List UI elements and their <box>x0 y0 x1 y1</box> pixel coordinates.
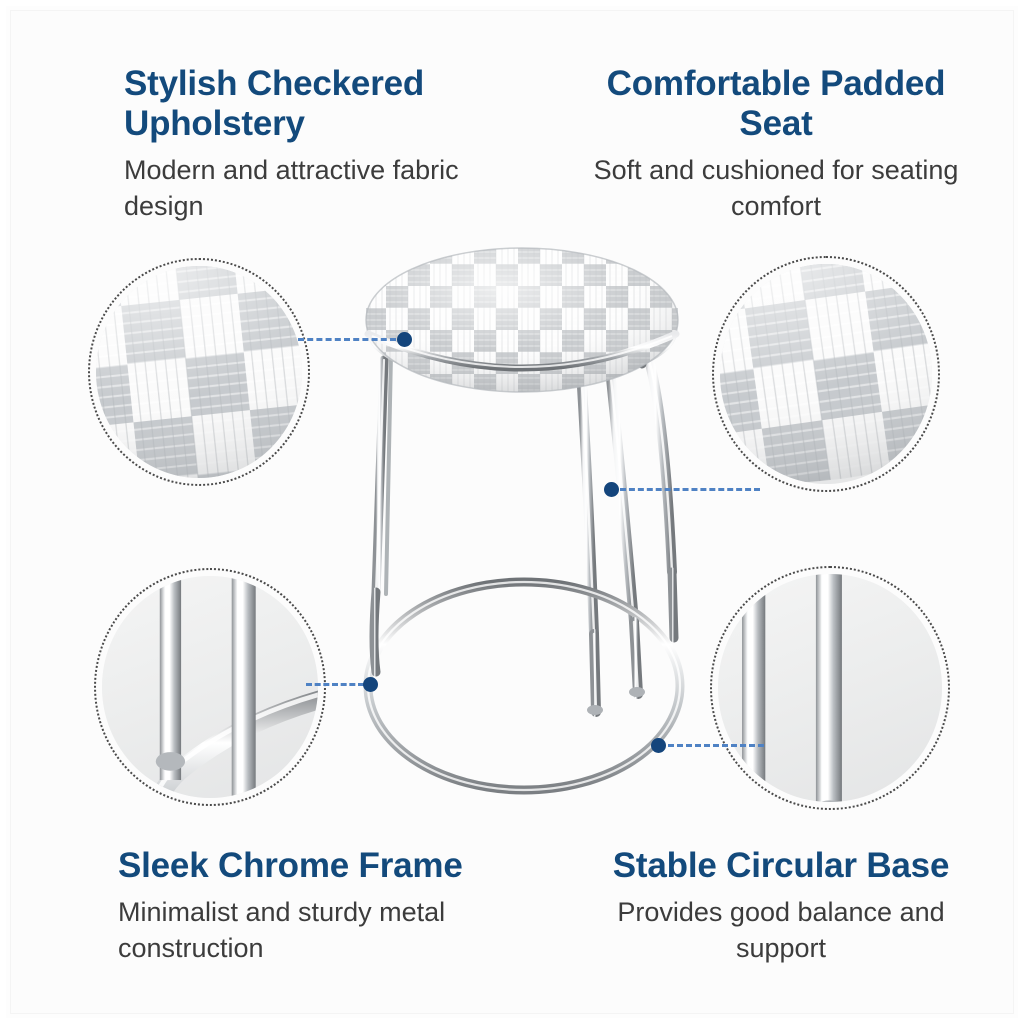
feature-text-padded-seat: Comfortable Padded Seat Soft and cushion… <box>566 64 986 224</box>
infographic-canvas: Stylish Checkered Upholstery Modern and … <box>0 0 1024 1024</box>
detail-circle-padded-seat-clip <box>720 264 932 484</box>
detail-circle-chrome-frame <box>94 568 326 806</box>
padded-seat-closeup-icon <box>720 264 932 484</box>
checkered-fabric-closeup-icon <box>96 266 302 478</box>
connector-dot-padded-seat <box>604 482 619 497</box>
detail-circle-padded-seat <box>712 256 940 492</box>
detail-circle-circular-base-clip <box>718 574 942 802</box>
connector-dot-chrome-frame <box>363 677 378 692</box>
chrome-leg-closeup-icon <box>102 576 318 798</box>
stool-illustration <box>342 242 702 802</box>
detail-circle-circular-base <box>710 566 950 810</box>
connector-dot-upholstery <box>397 332 412 347</box>
feature-subtitle-chrome-frame: Minimalist and sturdy metal construction <box>118 894 538 966</box>
circular-base-closeup-icon <box>718 574 942 802</box>
detail-circle-upholstery <box>88 258 310 486</box>
feature-title-padded-seat: Comfortable Padded Seat <box>566 64 986 144</box>
product-image-stool <box>342 242 702 802</box>
stool-seat <box>366 248 678 392</box>
feature-text-chrome-frame: Sleek Chrome Frame Minimalist and sturdy… <box>118 846 538 966</box>
connector-line-chrome-frame <box>306 683 364 686</box>
feature-subtitle-padded-seat: Soft and cushioned for seating comfort <box>566 152 986 224</box>
detail-circle-upholstery-clip <box>96 266 302 478</box>
feature-title-upholstery: Stylish Checkered Upholstery <box>124 64 484 144</box>
feature-subtitle-upholstery: Modern and attractive fabric design <box>124 152 484 224</box>
connector-line-padded-seat <box>620 488 760 491</box>
connector-dot-circular-base <box>651 738 666 753</box>
feature-text-circular-base: Stable Circular Base Provides good balan… <box>576 846 986 966</box>
connector-line-circular-base <box>668 744 764 747</box>
feature-text-upholstery: Stylish Checkered Upholstery Modern and … <box>124 64 484 224</box>
feature-title-chrome-frame: Sleek Chrome Frame <box>118 846 538 886</box>
detail-circle-chrome-frame-clip <box>102 576 318 798</box>
feature-subtitle-circular-base: Provides good balance and support <box>576 894 986 966</box>
connector-line-upholstery <box>298 338 396 341</box>
feature-title-circular-base: Stable Circular Base <box>576 846 986 886</box>
